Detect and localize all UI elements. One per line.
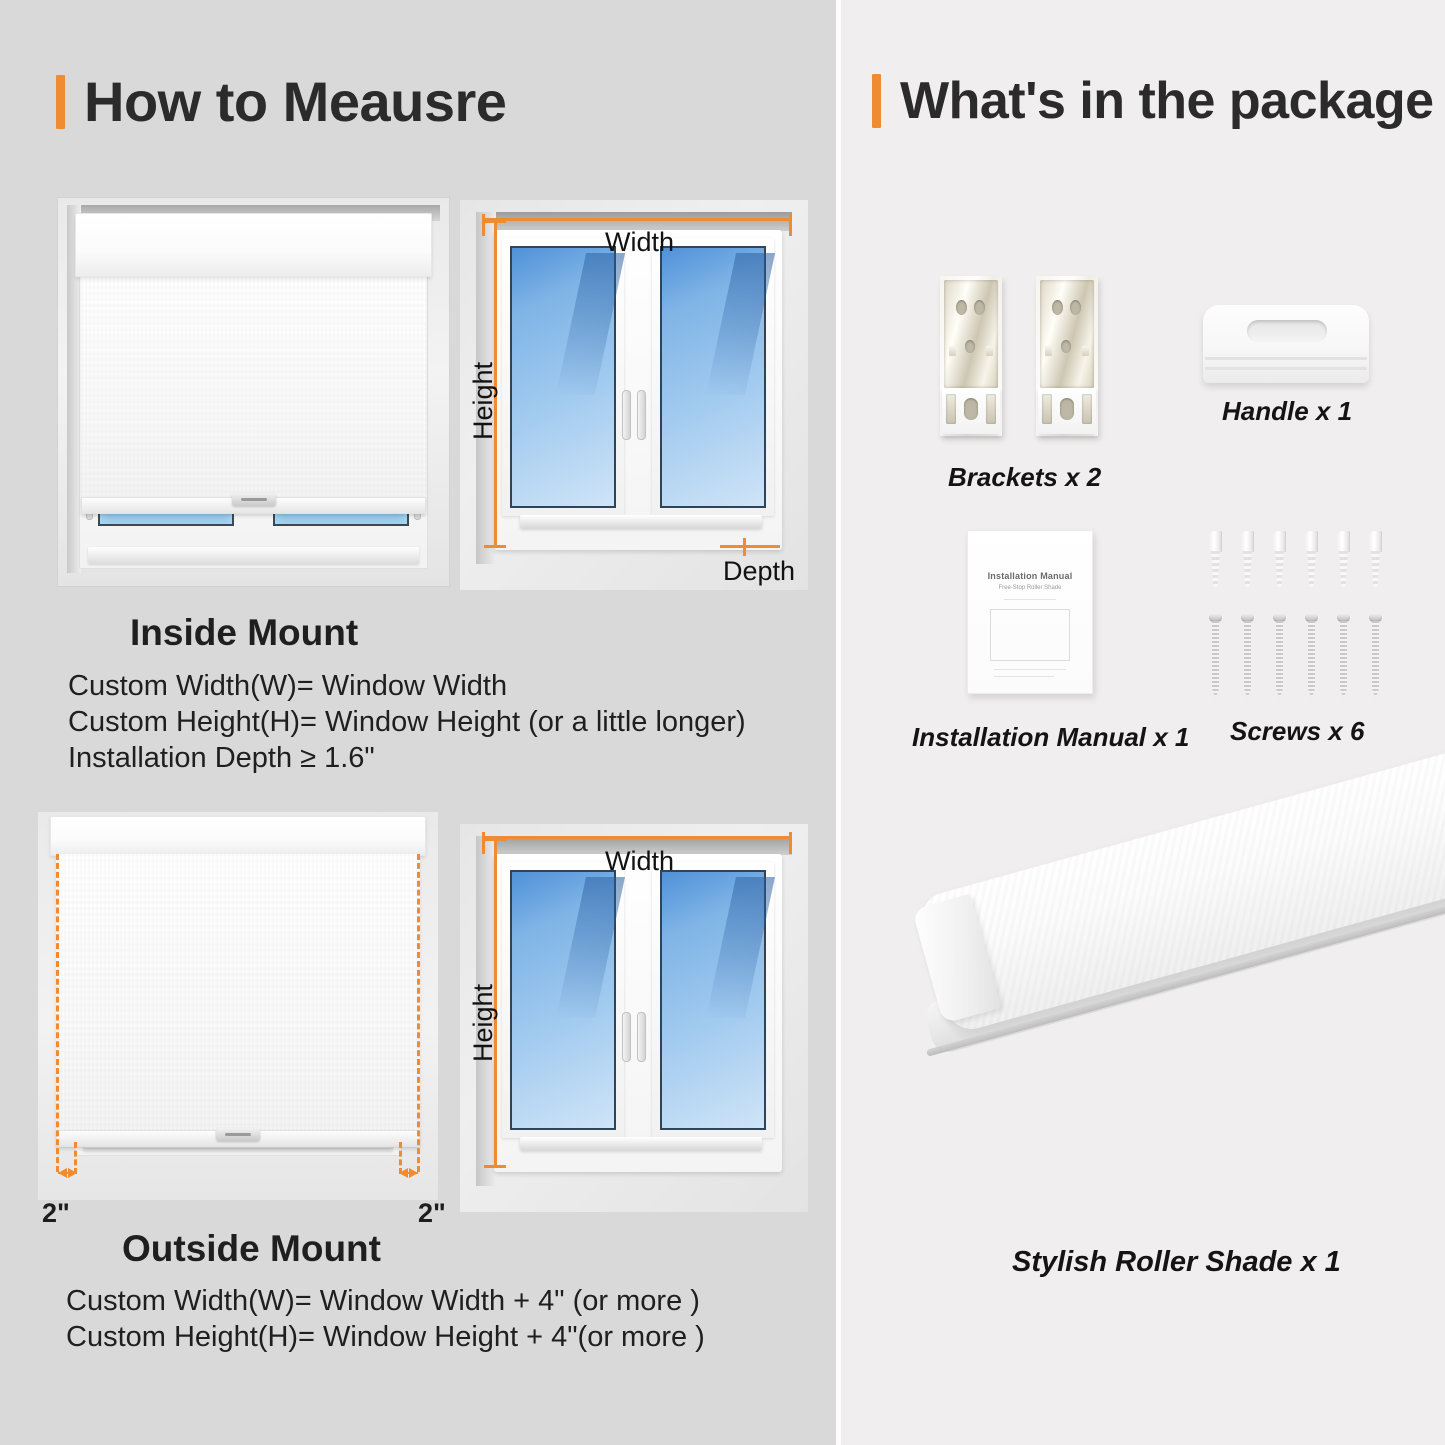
glass-left [510, 870, 616, 1130]
height-tick-top [484, 220, 506, 223]
shade-pull-handle [216, 1128, 260, 1141]
outside-mount-title: Outside Mount [122, 1228, 381, 1270]
outside-mount-illustration [38, 812, 438, 1200]
anchor-head [1369, 531, 1382, 552]
overhang-arrowhead-left-2 [68, 1168, 77, 1178]
bracket-base [942, 388, 1000, 434]
anchor-body [1211, 551, 1220, 587]
anchor-body [1307, 551, 1316, 587]
handle-icon [1203, 305, 1369, 383]
screw-head [1305, 613, 1318, 622]
bracket-slot-left [1042, 394, 1052, 424]
bracket-center-hole [964, 398, 978, 420]
anchor-body [1275, 551, 1284, 587]
inside-mount-illustration [57, 197, 450, 587]
handle-label: Handle x 1 [1222, 396, 1352, 427]
bracket-hole-1 [956, 300, 967, 315]
handle-ridge-2 [1205, 367, 1367, 370]
depth-measure-line [720, 545, 780, 548]
bracket-slot-right [986, 394, 996, 424]
inside-mount-line-1: Custom Width(W)= Window Width [68, 670, 507, 703]
anchor-body [1371, 551, 1380, 587]
screw-icon [1209, 613, 1222, 698]
sash-right [652, 238, 774, 516]
anchor-body [1243, 551, 1252, 587]
screw-shaft [1244, 621, 1251, 698]
bracket-tab-right [1082, 346, 1089, 356]
width-label: Width [605, 227, 674, 258]
shade-pull-handle [232, 493, 276, 506]
measure-diagram-outside: Width Height [460, 824, 808, 1212]
overhang-left-value: 2" [42, 1198, 70, 1229]
manual-label: Installation Manual x 1 [912, 722, 1189, 753]
screw-shaft [1212, 621, 1219, 698]
overhang-right-value: 2" [418, 1198, 446, 1229]
window-frame [494, 230, 782, 550]
wall-anchor-icon [1273, 531, 1286, 587]
manual-footer-line-2 [994, 676, 1054, 677]
width-tick-left [482, 214, 485, 236]
wall-anchor-icon [1369, 531, 1382, 587]
screw-icon [1305, 613, 1318, 698]
glass-right [660, 870, 766, 1130]
window-sill [520, 1137, 762, 1150]
anchor-head [1241, 531, 1254, 552]
manual-cover-subtitle: Free-Stop Roller Shade [968, 585, 1092, 591]
height-label: Height [468, 984, 499, 1062]
bracket-tab-left [949, 346, 956, 356]
screw-shaft [1372, 621, 1379, 698]
screw-shaft [1340, 621, 1347, 698]
sash-left [502, 862, 624, 1138]
width-measure-line [482, 836, 792, 839]
screw-icon [1241, 613, 1254, 698]
screw-icon [1369, 613, 1382, 698]
wall-anchor-icon [1241, 531, 1254, 587]
anchor-body [1339, 551, 1348, 587]
shade-headrail [75, 213, 432, 277]
anchor-head [1305, 531, 1318, 552]
roller-shade-icon [916, 900, 1436, 1200]
depth-label: Depth [723, 556, 795, 587]
manual-footer-line-1 [994, 669, 1066, 670]
screw-head [1369, 613, 1382, 622]
how-to-measure-heading: How to Meausre [56, 74, 506, 130]
manual-cover-figure [990, 609, 1070, 661]
roller-shade-label: Stylish Roller Shade x 1 [1012, 1246, 1341, 1279]
shade-headrail [50, 816, 426, 856]
bracket-metal-body [1040, 280, 1094, 388]
screw-shaft [1308, 621, 1315, 698]
bracket-hole-1 [1052, 300, 1063, 315]
sash-lever-left [622, 1012, 631, 1062]
anchor-head [1273, 531, 1286, 552]
manual-icon: Installation Manual Free-Stop Roller Sha… [967, 530, 1093, 694]
outside-mount-line-2: Custom Height(H)= Window Height + 4"(or … [66, 1321, 705, 1354]
inside-mount-title: Inside Mount [130, 612, 358, 654]
bracket-metal-body [944, 280, 998, 388]
bracket-center-hole [1060, 398, 1074, 420]
height-label: Height [468, 362, 499, 440]
height-tick-top [484, 838, 506, 841]
overhang-arrowhead-right-2 [409, 1168, 418, 1178]
bracket-slot-right [1082, 394, 1092, 424]
how-to-measure-heading-text: How to Meausre [84, 74, 506, 130]
wall-anchor-icon [1209, 531, 1222, 587]
sash-lever-left [622, 390, 631, 440]
brackets-label: Brackets x 2 [948, 462, 1101, 493]
bracket-hole-2 [1070, 300, 1081, 315]
height-tick-bottom [484, 1165, 506, 1168]
manual-sketch-line-1 [1004, 599, 1056, 600]
overhang-guide-right [417, 854, 420, 1172]
window-sill [520, 515, 762, 528]
bracket-tab-right [986, 346, 993, 356]
screw-icon [1337, 613, 1350, 698]
accent-bar-icon [56, 75, 65, 129]
glass-left [510, 246, 616, 508]
width-tick-left [482, 832, 485, 854]
screw-head [1273, 613, 1286, 622]
accent-bar-icon [872, 74, 881, 128]
window-sill [88, 547, 419, 564]
wall-anchor-icon [1337, 531, 1350, 587]
screw-head [1209, 613, 1222, 622]
bracket-icon [940, 276, 1002, 436]
shade-fabric [56, 854, 420, 1132]
manual-cover-title: Installation Manual [968, 571, 1092, 581]
handle-slot [1247, 320, 1327, 342]
width-tick-right [789, 214, 792, 236]
depth-tick [743, 538, 746, 556]
inside-mount-line-3: Installation Depth ≥ 1.6" [68, 742, 375, 775]
bracket-base [1038, 388, 1096, 434]
handle-ridge-1 [1205, 357, 1367, 360]
bracket-hole-3 [1061, 340, 1071, 353]
height-tick-bottom [484, 545, 506, 548]
bracket-icon-2 [1036, 276, 1098, 436]
measure-diagram-inside: Width Height Depth [460, 200, 808, 590]
glass-right [660, 246, 766, 508]
width-measure-line [482, 218, 792, 221]
bracket-hole-3 [965, 340, 975, 353]
overhang-arrowhead-left [58, 1168, 67, 1178]
outside-mount-line-1: Custom Width(W)= Window Width + 4" (or m… [66, 1285, 700, 1318]
screws-label: Screws x 6 [1230, 716, 1364, 747]
width-tick-right [789, 832, 792, 854]
sash-lever-right [637, 1012, 646, 1062]
sash-right [652, 862, 774, 1138]
overhang-arrowhead-right [399, 1168, 408, 1178]
bracket-hole-2 [974, 300, 985, 315]
screw-icon [1273, 613, 1286, 698]
sash-lever-right [637, 390, 646, 440]
anchor-head [1337, 531, 1350, 552]
bracket-tab-left [1045, 346, 1052, 356]
anchor-head [1209, 531, 1222, 552]
inside-mount-line-2: Custom Height(H)= Window Height (or a li… [68, 706, 746, 739]
window-frame [494, 854, 782, 1172]
shade-fabric [81, 267, 426, 499]
sash-left [502, 238, 624, 516]
package-heading-text: What's in the package [900, 75, 1434, 127]
width-label: Width [605, 846, 674, 877]
overhang-guide-left [56, 854, 59, 1172]
screw-head [1337, 613, 1350, 622]
infographic-page: How to Meausre [0, 0, 1445, 1445]
screw-head [1241, 613, 1254, 622]
screw-shaft [1276, 621, 1283, 698]
package-heading: What's in the package [872, 74, 1434, 128]
wall-anchor-icon [1305, 531, 1318, 587]
bracket-slot-left [946, 394, 956, 424]
